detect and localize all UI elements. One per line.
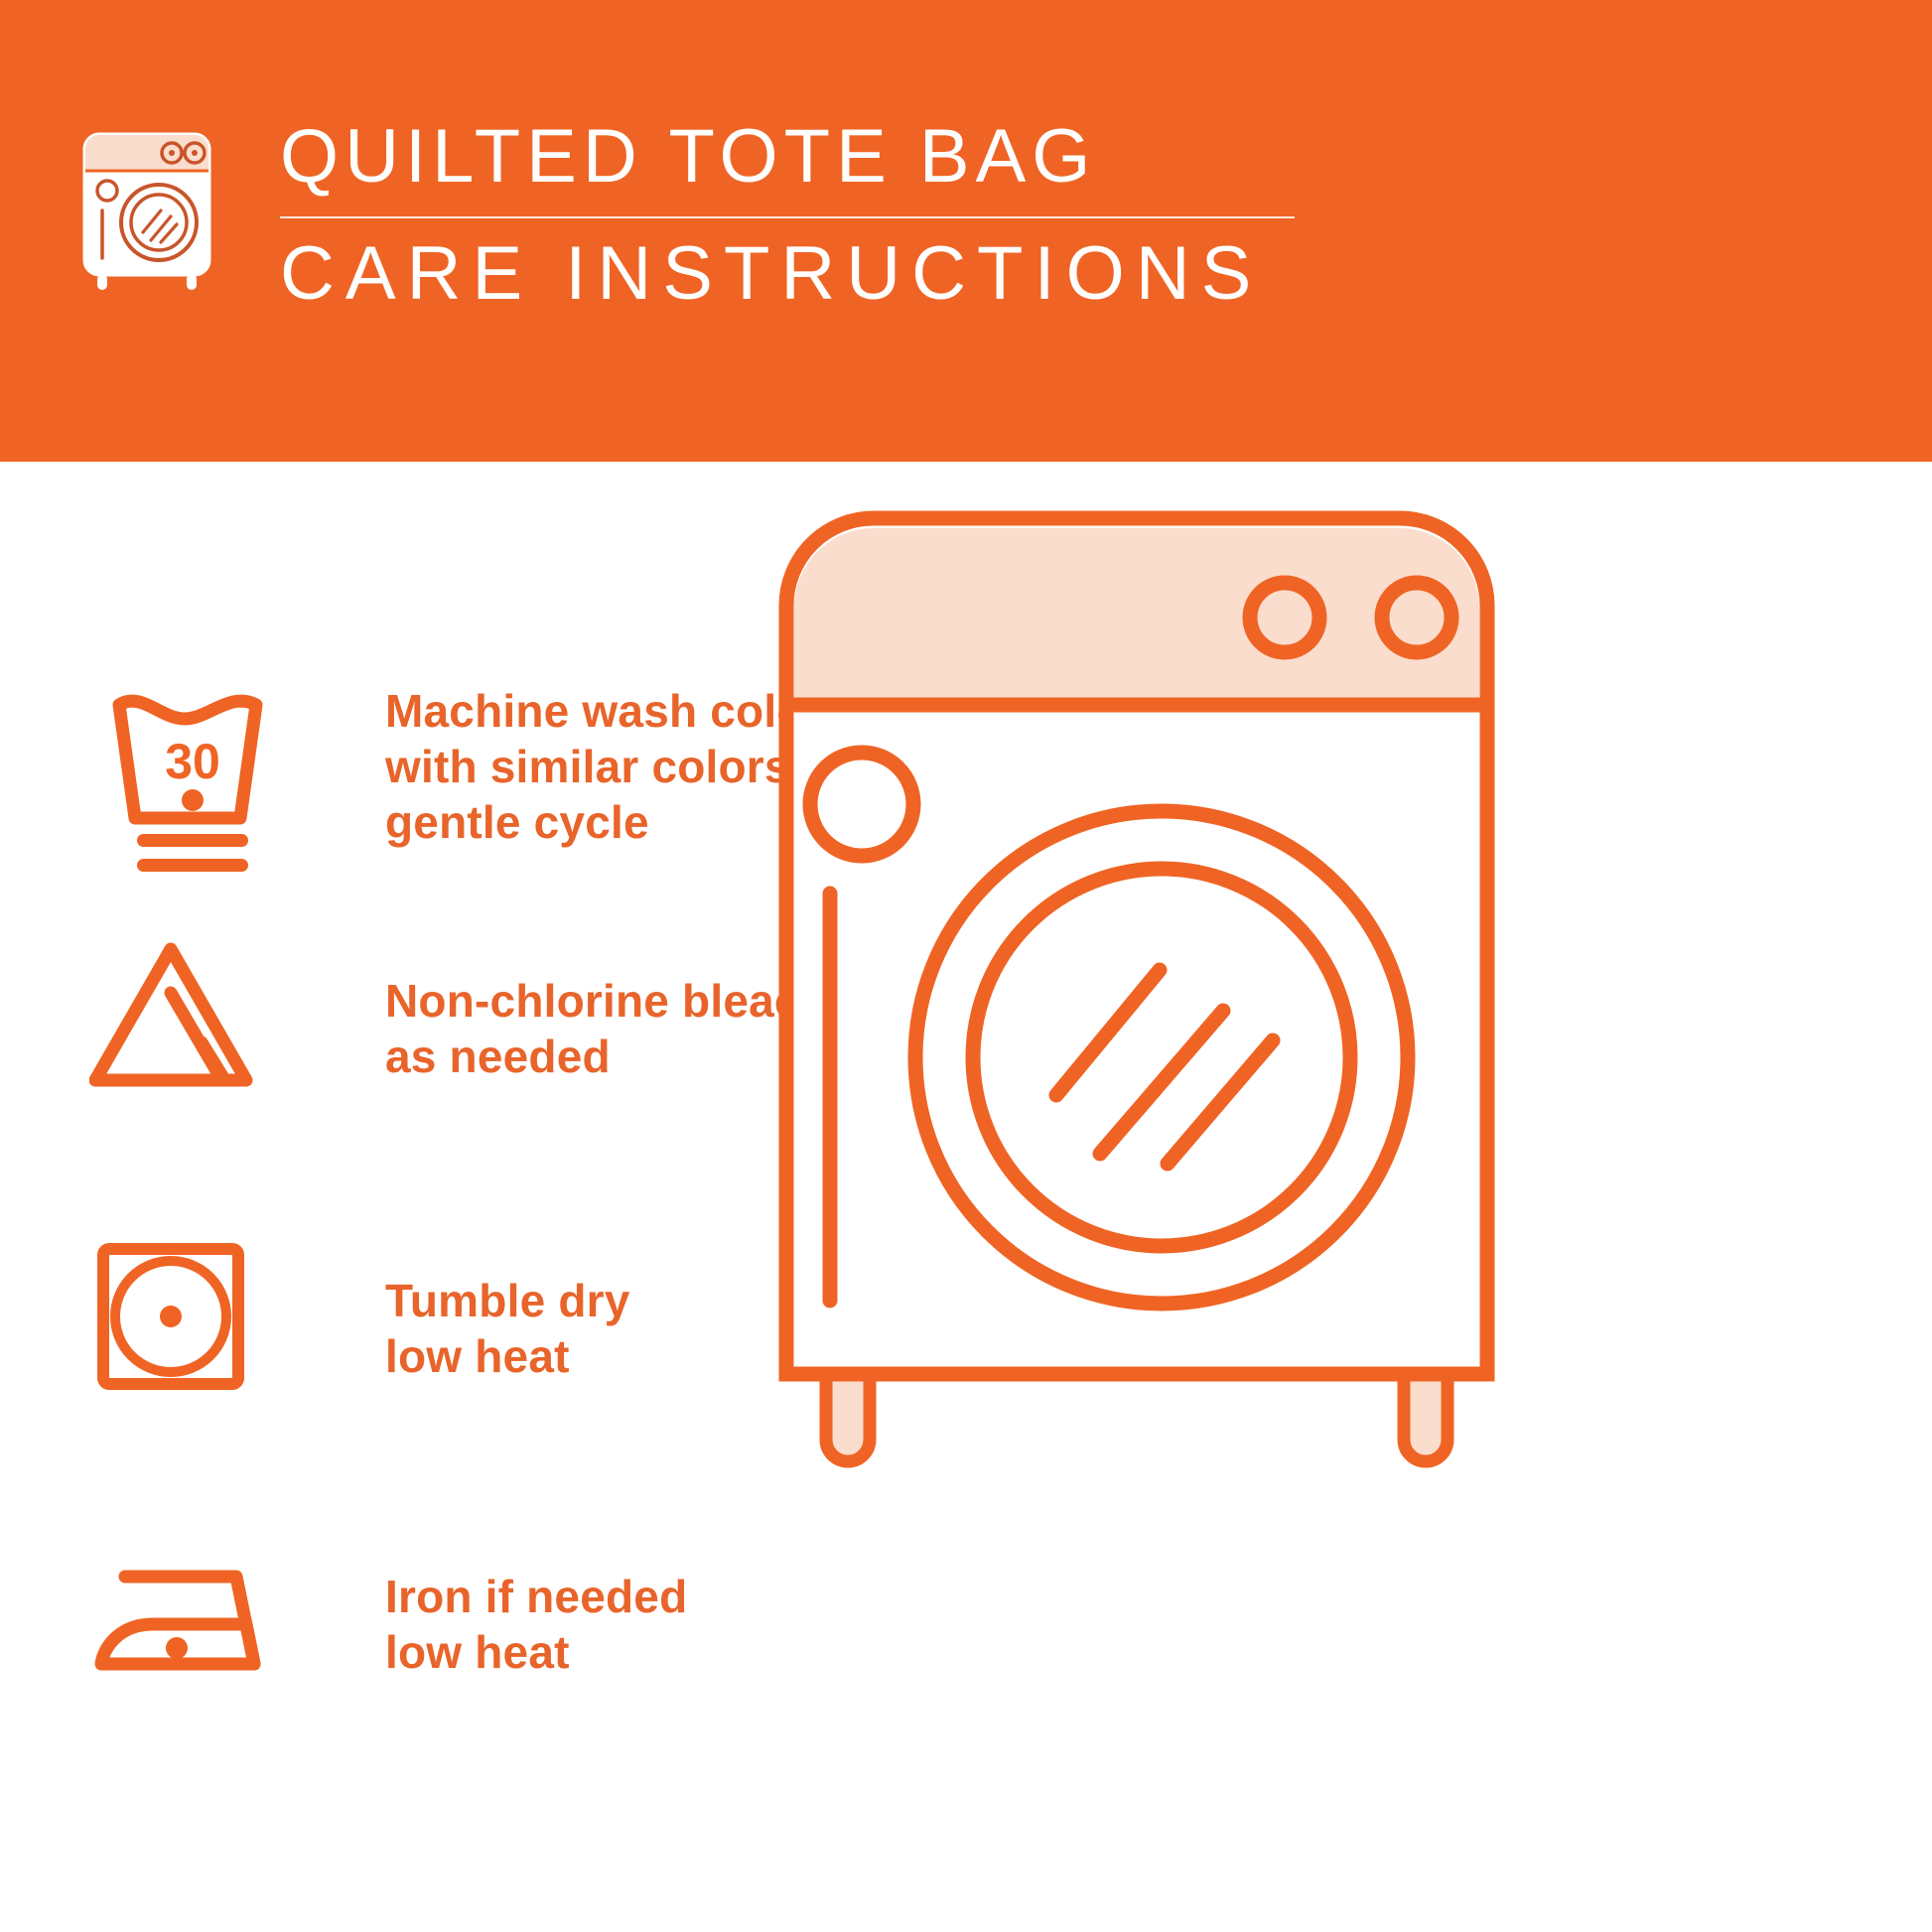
leg-left: [826, 1370, 870, 1461]
washing-machine-illustration: [764, 496, 1559, 1489]
tumble-dry-low-heat-icon: [89, 1231, 288, 1430]
care-label-iron: Iron if needed low heat: [385, 1569, 901, 1680]
page-title: QUILTED TOTE BAG: [280, 119, 1332, 195]
non-chlorine-bleach-triangle-icon: [89, 931, 288, 1130]
care-label-line: Iron if needed: [385, 1569, 901, 1624]
washing-machine-icon: [77, 127, 216, 296]
header-banner: QUILTED TOTE BAG CARE INSTRUCTIONS: [0, 0, 1932, 462]
care-instructions-infographic: QUILTED TOTE BAG CARE INSTRUCTIONS 30: [0, 0, 1932, 1932]
iron-low-heat-icon: [89, 1537, 288, 1735]
knob-left: [1250, 583, 1319, 652]
care-label-line: low heat: [385, 1624, 901, 1680]
header-text-block: QUILTED TOTE BAG CARE INSTRUCTIONS: [280, 119, 1332, 312]
knob-right: [1382, 583, 1451, 652]
title-divider: [280, 216, 1295, 218]
leg-right: [1404, 1370, 1448, 1461]
wash-temp-label: 30: [165, 734, 220, 789]
page-subtitle: CARE INSTRUCTIONS: [280, 236, 1332, 312]
